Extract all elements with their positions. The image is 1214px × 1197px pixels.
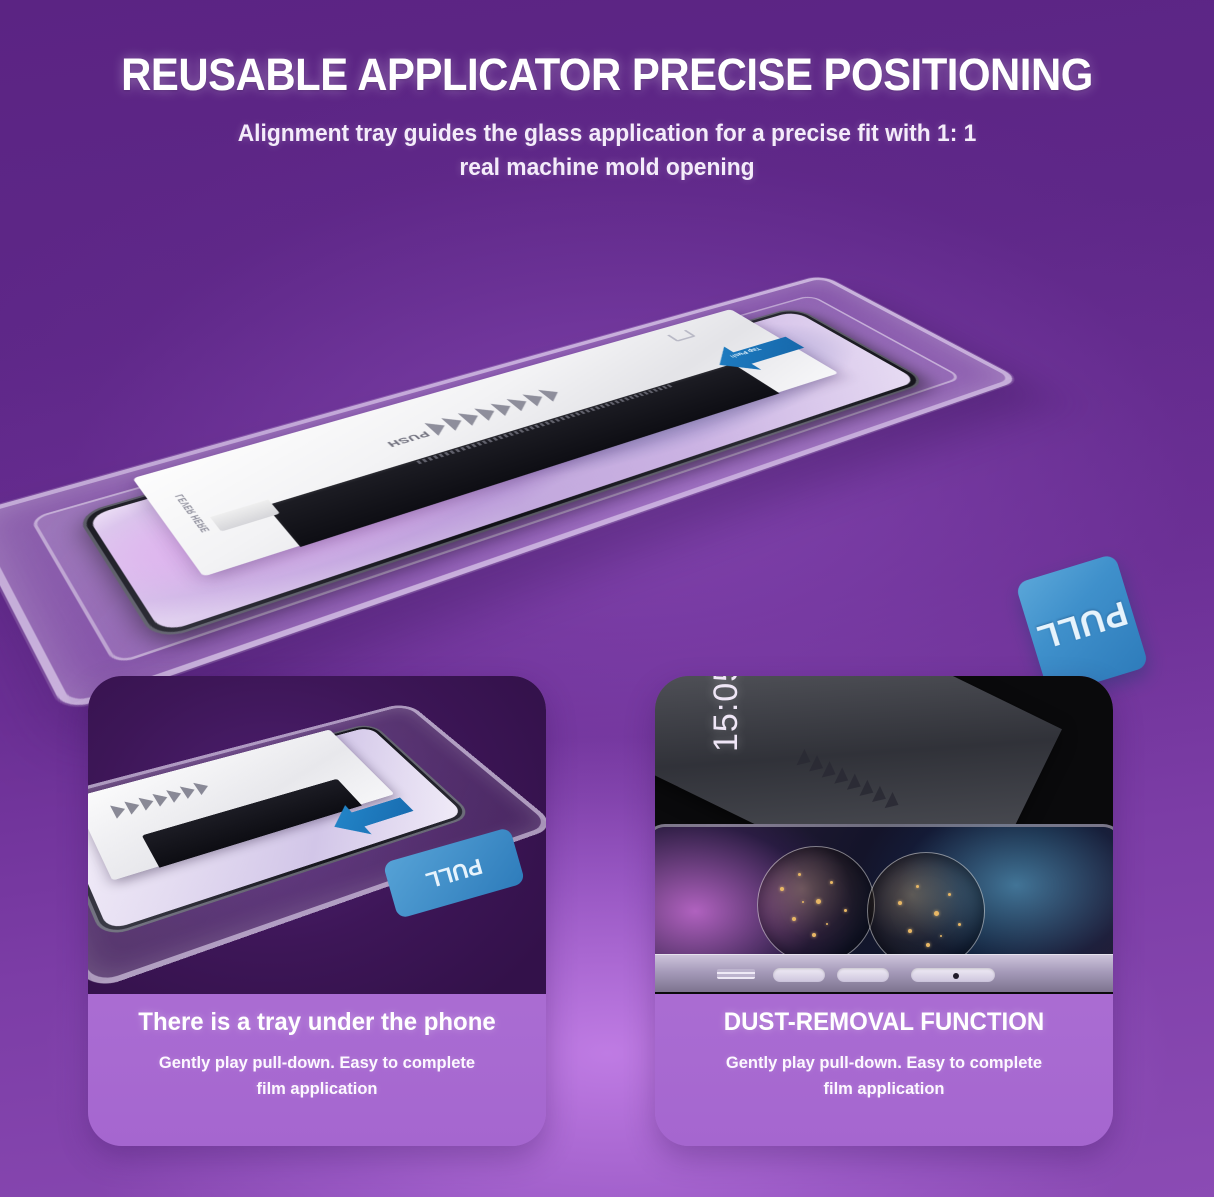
card-caption-left: There is a tray under the phone Gently p… [88,994,546,1101]
card-sub-left-line-1: Gently play pull-down. Easy to complete [159,1053,475,1072]
tray-closeup-chevron-arrows-icon [110,780,212,819]
card-title-right: DUST-REMOVAL FUNCTION [681,1008,1086,1036]
phone-button-left [773,968,825,982]
page-title: REUSABLE APPLICATOR PRECISE POSITIONING [42,52,1171,97]
phone-speaker-grill-icon [717,969,755,979]
phone-button-right [837,968,889,982]
subtitle-line-2: real machine mold opening [30,151,1183,185]
subtitle-line-1: Alignment tray guides the glass applicat… [238,120,977,147]
phone-clock: 15:05 [707,676,746,752]
dust-magnifier-right-icon [867,852,985,970]
phone-microphone-icon [953,973,959,979]
feature-card-tray-under-phone[interactable]: PULL There is a tray under the phone Gen… [88,676,546,1146]
card-sub-left-line-2: film application [112,1076,521,1102]
dust-magnifier-left-icon [757,846,875,964]
tray-assembly: LEVER HERE PUSH Tap Push [0,275,1021,713]
card-title-left: There is a tray under the phone [114,1008,519,1036]
hero-product-image: LEVER HERE PUSH Tap Push PULL [0,250,1214,650]
card-caption-right: DUST-REMOVAL FUNCTION Gently play pull-d… [655,994,1113,1101]
card-subtitle-right: Gently play pull-down. Easy to complete … [679,1050,1088,1101]
lever-here-label: LEVER HERE [174,493,214,533]
feature-card-dust-removal[interactable]: 15:05 [655,676,1113,1146]
page-subtitle: Alignment tray guides the glass applicat… [30,117,1183,185]
card-sub-right-line-1: Gently play pull-down. Easy to complete [726,1053,1042,1072]
card-image-dust-removal: 15:05 [655,676,1113,994]
header: REUSABLE APPLICATOR PRECISE POSITIONING … [0,0,1214,185]
card-sub-right-line-2: film application [679,1076,1088,1102]
card-image-tray-closeup: PULL [88,676,546,994]
promo-page: REUSABLE APPLICATOR PRECISE POSITIONING … [0,0,1214,1197]
card-subtitle-left: Gently play pull-down. Easy to complete … [112,1050,521,1101]
